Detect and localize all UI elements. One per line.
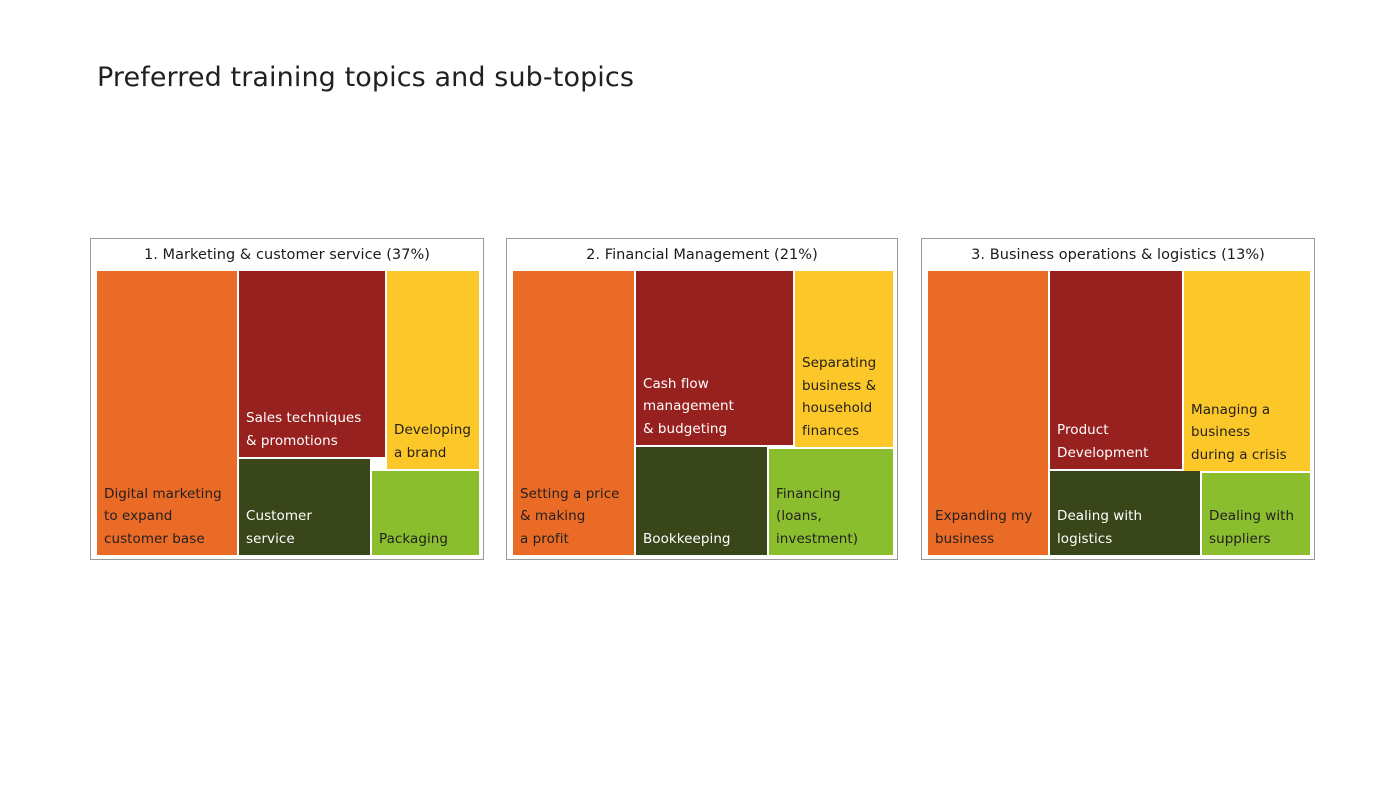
tile-label: Customer service <box>246 505 366 550</box>
treemap-tile[interactable]: Packaging <box>372 471 479 555</box>
treemap-tile[interactable]: Sales techniques & promotions <box>239 271 385 457</box>
treemap-tile[interactable]: Bookkeeping <box>636 447 767 555</box>
treemap-tile[interactable]: Financing (loans, investment) <box>769 449 893 555</box>
tile-label: Dealing with logistics <box>1057 505 1196 550</box>
tile-label: Product Development <box>1057 419 1178 464</box>
panel-header: 1. Marketing & customer service (37%) <box>91 239 483 271</box>
page-title: Preferred training topics and sub-topics <box>97 62 634 93</box>
treemap-chart: 1. Marketing & customer service (37%) Di… <box>0 238 1400 563</box>
tile-label: Expanding my business <box>935 505 1044 550</box>
tile-label: Packaging <box>379 528 475 551</box>
tile-label: Setting a price & making a profit <box>520 483 630 551</box>
treemap-panel-financial: 2. Financial Management (21%) Setting a … <box>506 238 898 560</box>
treemap-panel-operations: 3. Business operations & logistics (13%)… <box>921 238 1315 560</box>
tile-label: Managing a business during a crisis <box>1191 399 1306 467</box>
tile-label: Developing a brand <box>394 419 475 464</box>
tile-label: Financing (loans, investment) <box>776 483 889 551</box>
panel-header: 2. Financial Management (21%) <box>507 239 897 271</box>
tile-label: Cash flow management & budgeting <box>643 373 789 441</box>
treemap-tile[interactable]: Setting a price & making a profit <box>513 271 634 555</box>
tile-group: Setting a price & making a profit Cash f… <box>513 271 891 553</box>
treemap-tile[interactable]: Separating business & household finances <box>795 271 893 447</box>
tile-label: Bookkeeping <box>643 528 763 551</box>
treemap-panel-marketing: 1. Marketing & customer service (37%) Di… <box>90 238 484 560</box>
treemap-tile[interactable]: Cash flow management & budgeting <box>636 271 793 445</box>
panel-header: 3. Business operations & logistics (13%) <box>922 239 1314 271</box>
tile-label: Sales techniques & promotions <box>246 407 381 452</box>
treemap-tile[interactable]: Expanding my business <box>928 271 1048 555</box>
tile-label: Digital marketing to expand customer bas… <box>104 483 233 551</box>
treemap-tile[interactable]: Managing a business during a crisis <box>1184 271 1310 471</box>
treemap-tile[interactable]: Product Development <box>1050 271 1182 469</box>
tile-label: Separating business & household finances <box>802 352 889 442</box>
tile-label: Dealing with suppliers <box>1209 505 1306 550</box>
tile-group: Expanding my business Product Developmen… <box>928 271 1308 553</box>
treemap-tile[interactable]: Developing a brand <box>387 271 479 469</box>
tile-group: Digital marketing to expand customer bas… <box>97 271 477 553</box>
treemap-tile[interactable]: Customer service <box>239 459 370 555</box>
treemap-tile[interactable]: Dealing with logistics <box>1050 471 1200 555</box>
treemap-tile[interactable]: Digital marketing to expand customer bas… <box>97 271 237 555</box>
treemap-tile[interactable]: Dealing with suppliers <box>1202 473 1310 555</box>
